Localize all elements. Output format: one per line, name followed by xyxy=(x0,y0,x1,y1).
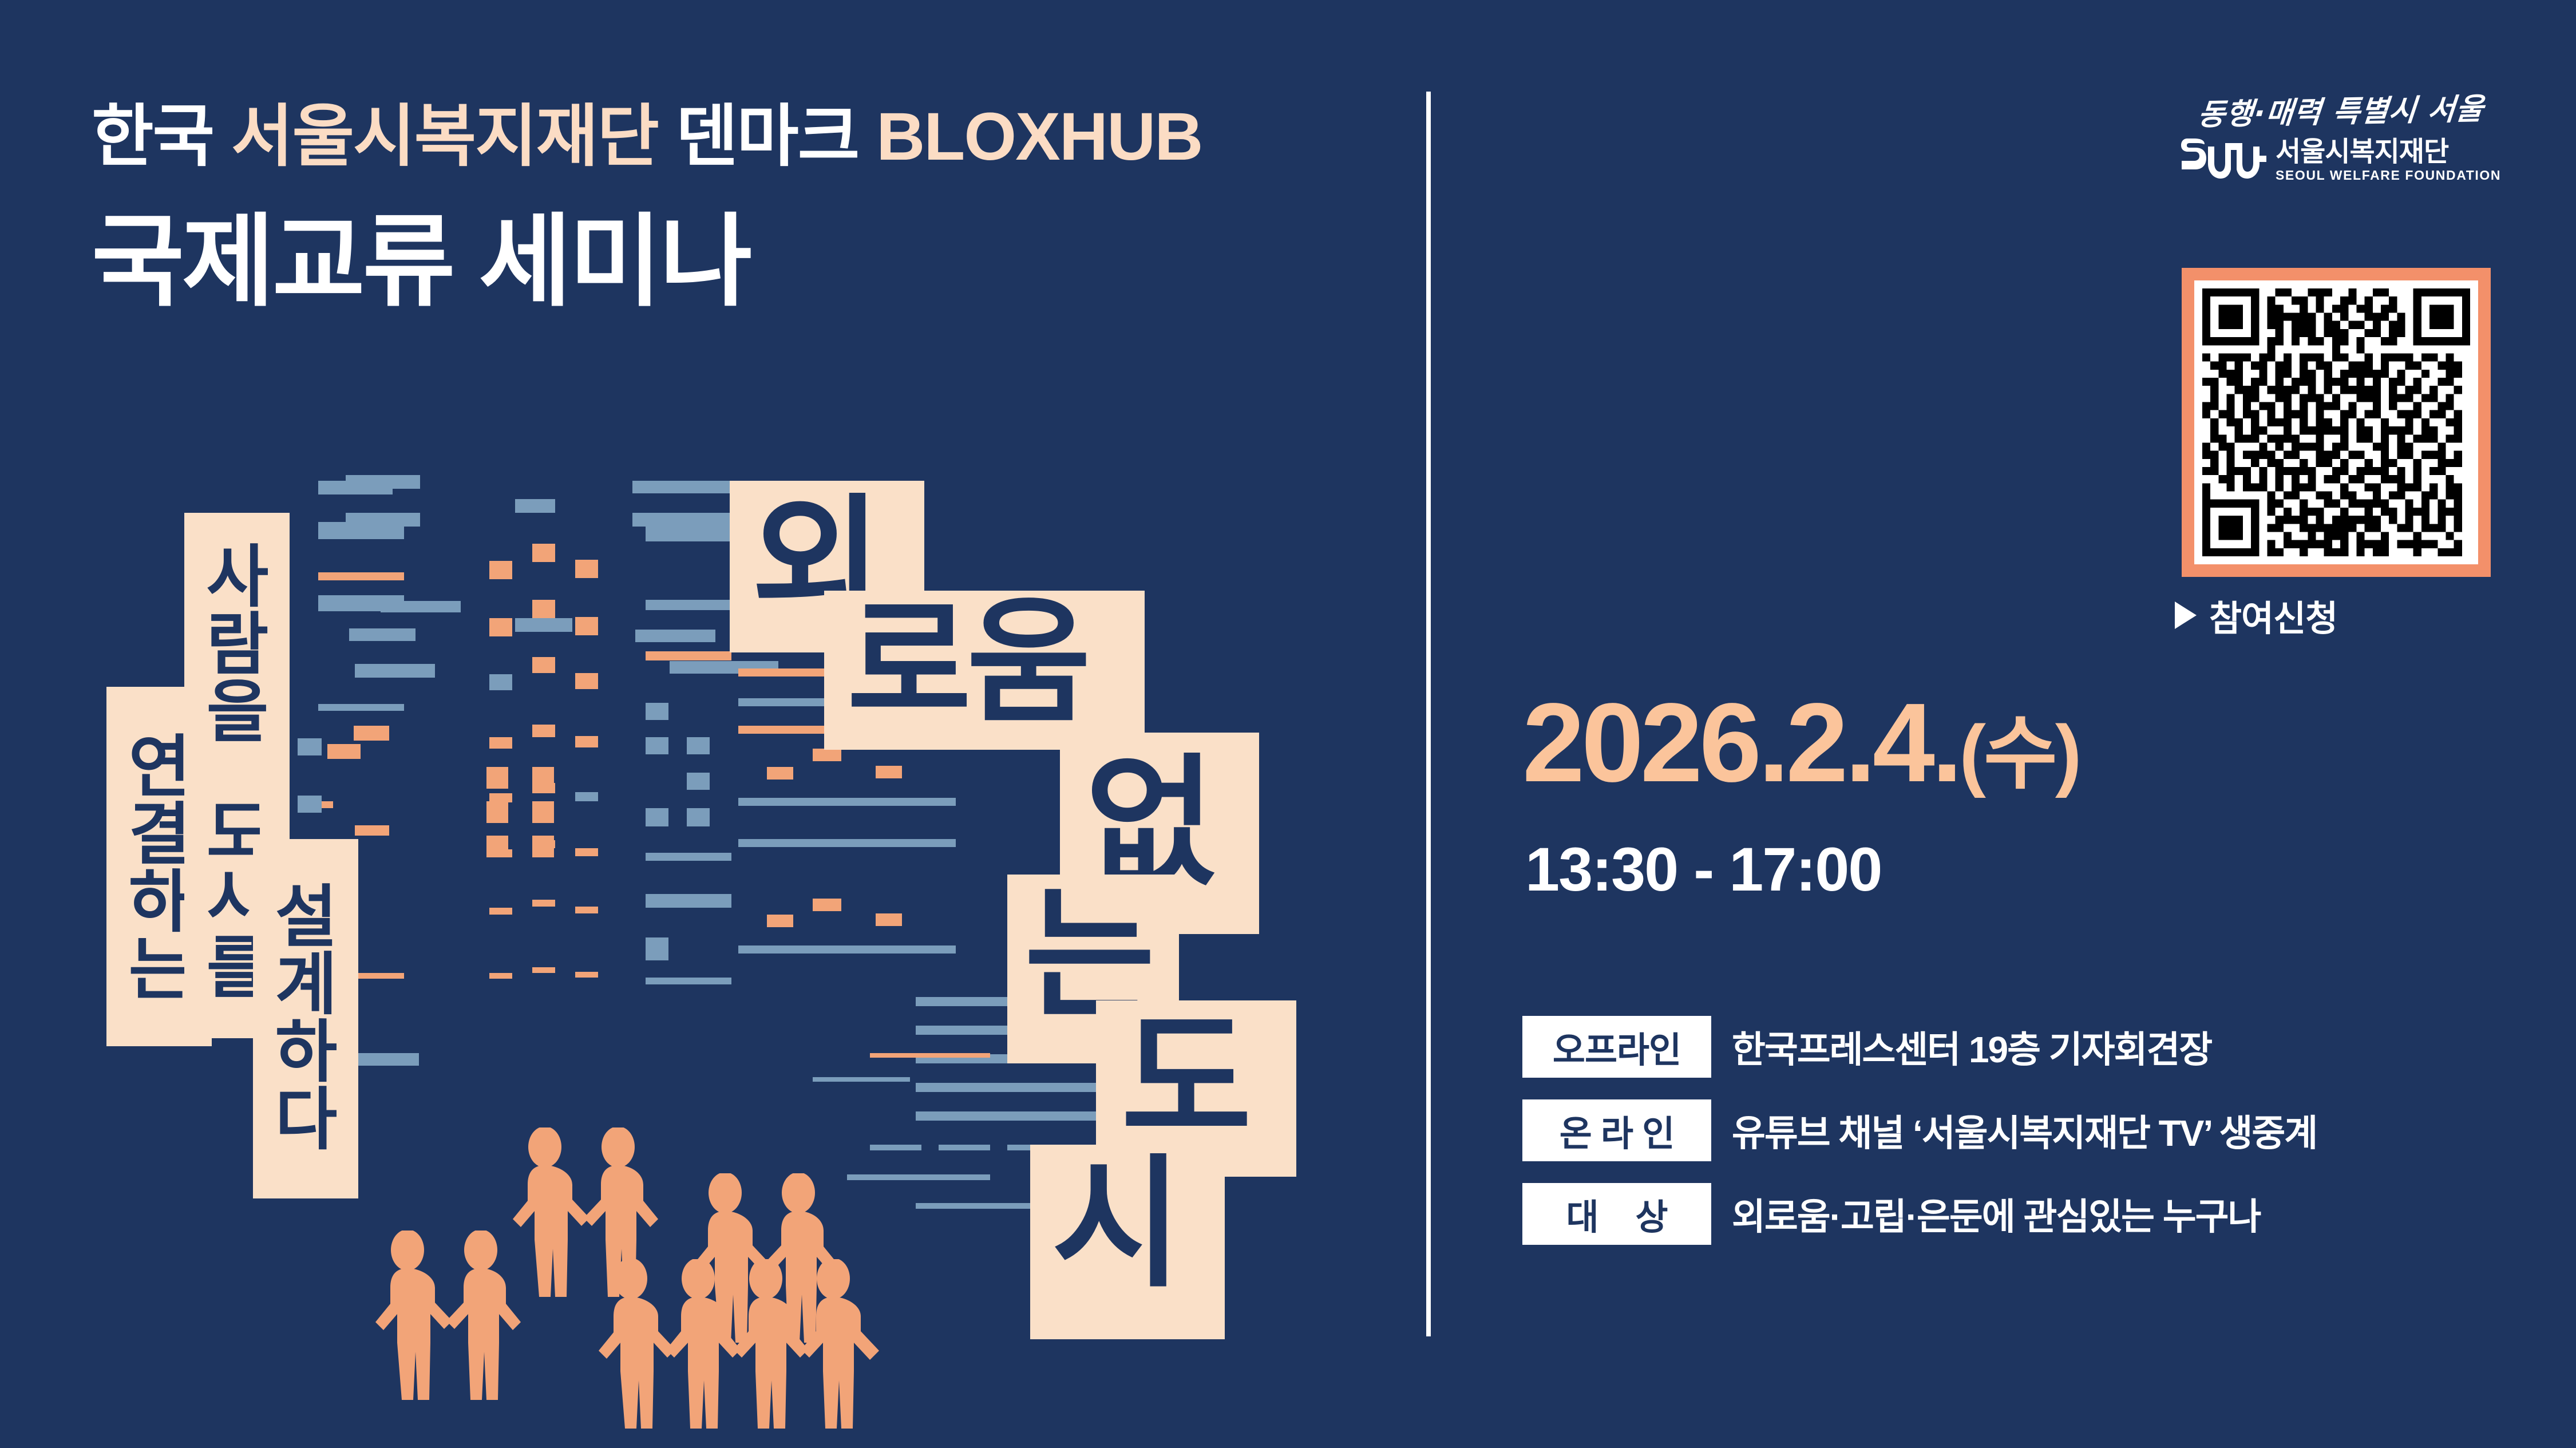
slogan-char: 로움 xyxy=(847,587,1086,738)
page-title: 국제교류 세미나 xyxy=(92,206,750,319)
detail-badge: 온 라 인 xyxy=(1522,1099,1711,1161)
kicker-part-korea: 한국 xyxy=(92,99,231,175)
tagline-block-saramul: 사 람 을 xyxy=(184,513,290,777)
slogan-block-roum: 로움 xyxy=(824,591,1145,750)
event-kicker: 한국 서울시복지재단 덴마크 BLOXHUB xyxy=(92,103,1202,171)
event-date: 2026.2.4.(수) xyxy=(1522,687,2079,799)
detail-badge: 오프라인 xyxy=(1522,1016,1711,1078)
tagline-char: 는 xyxy=(129,936,190,1004)
tagline-char: 설 xyxy=(275,884,337,951)
slogan-block-si: 시 xyxy=(1030,1145,1225,1339)
detail-text: 한국프레스센터 19층 기자회견장 xyxy=(1732,1020,2211,1073)
kicker-part-denmark: 덴마크 xyxy=(658,99,876,175)
logo-text-block: 서울시복지재단 SEOUL WELFARE FOUNDATION xyxy=(2276,139,2501,182)
seoul-slogan-text: 동행·매력 특별시 서울 xyxy=(2190,94,2491,130)
swf-mark-icon xyxy=(2181,137,2266,183)
slogan-char: 시 xyxy=(1052,1144,1178,1303)
event-weekday: (수) xyxy=(1959,709,2079,798)
event-time: 13:30 - 17:00 xyxy=(1525,838,1881,900)
tagline-char: 사 xyxy=(207,544,268,611)
detail-badge: 대 상 xyxy=(1522,1183,1711,1245)
tagline-char: 결 xyxy=(129,801,190,869)
tagline-char: 다 xyxy=(275,1086,337,1154)
event-details-list: 오프라인 한국프레스센터 19층 기자회견장 온 라 인 유튜브 채널 ‘서울시… xyxy=(1522,1016,2317,1245)
kicker-part-swf: 서울시복지재단 xyxy=(231,99,658,175)
qr-code-image xyxy=(2194,280,2478,564)
qr-code[interactable] xyxy=(2182,268,2491,577)
apply-label: 참여신청 xyxy=(2209,590,2337,641)
event-date-value: 2026.2.4. xyxy=(1522,680,1959,805)
tagline-block-seolgyehada: 설 계 하 다 xyxy=(253,839,358,1198)
detail-row-audience: 대 상 외로움·고립·은둔에 관심있는 누구나 xyxy=(1522,1183,2317,1245)
kicker-part-bloxhub: BLOXHUB xyxy=(876,99,1202,175)
detail-row-online: 온 라 인 유튜브 채널 ‘서울시복지재단 TV’ 생중계 xyxy=(1522,1099,2317,1161)
tagline-char: 연 xyxy=(129,734,190,801)
detail-text: 유튜브 채널 ‘서울시복지재단 TV’ 생중계 xyxy=(1732,1104,2317,1157)
detail-row-offline: 오프라인 한국프레스센터 19층 기자회견장 xyxy=(1522,1016,2317,1078)
play-triangle-icon xyxy=(2175,602,2197,629)
tagline-char: 하 xyxy=(275,1019,337,1086)
people-group-pair-c xyxy=(366,1231,532,1402)
tagline-char: 을 xyxy=(207,679,268,746)
foundation-logo: 동행·매력 특별시 서울 서울시복지재단 SEOUL WELFARE FOUND… xyxy=(2192,97,2490,183)
people-group-quad xyxy=(589,1259,893,1431)
logo-name-ko: 서울시복지재단 xyxy=(2276,139,2501,166)
vertical-divider xyxy=(1426,92,1431,1336)
logo-name-en: SEOUL WELFARE FOUNDATION xyxy=(2276,169,2501,182)
poster-canvas: 한국 서울시복지재단 덴마크 BLOXHUB 국제교류 세미나 동행·매력 특별… xyxy=(0,0,2576,1448)
tagline-char: 하 xyxy=(129,869,190,936)
apply-link[interactable]: 참여신청 xyxy=(2175,590,2337,641)
slogan-char: 도 xyxy=(1121,1000,1247,1159)
logo-lockup: 서울시복지재단 SEOUL WELFARE FOUNDATION xyxy=(2192,137,2490,183)
detail-text: 외로움·고립·은둔에 관심있는 누구나 xyxy=(1732,1188,2260,1240)
tagline-char: 람 xyxy=(207,611,268,679)
poster-artwork: 연 결 하 는 사 람 을 도 시 를 설 계 하 다 외 로움 xyxy=(0,401,1402,1374)
tagline-char: 계 xyxy=(275,951,337,1019)
